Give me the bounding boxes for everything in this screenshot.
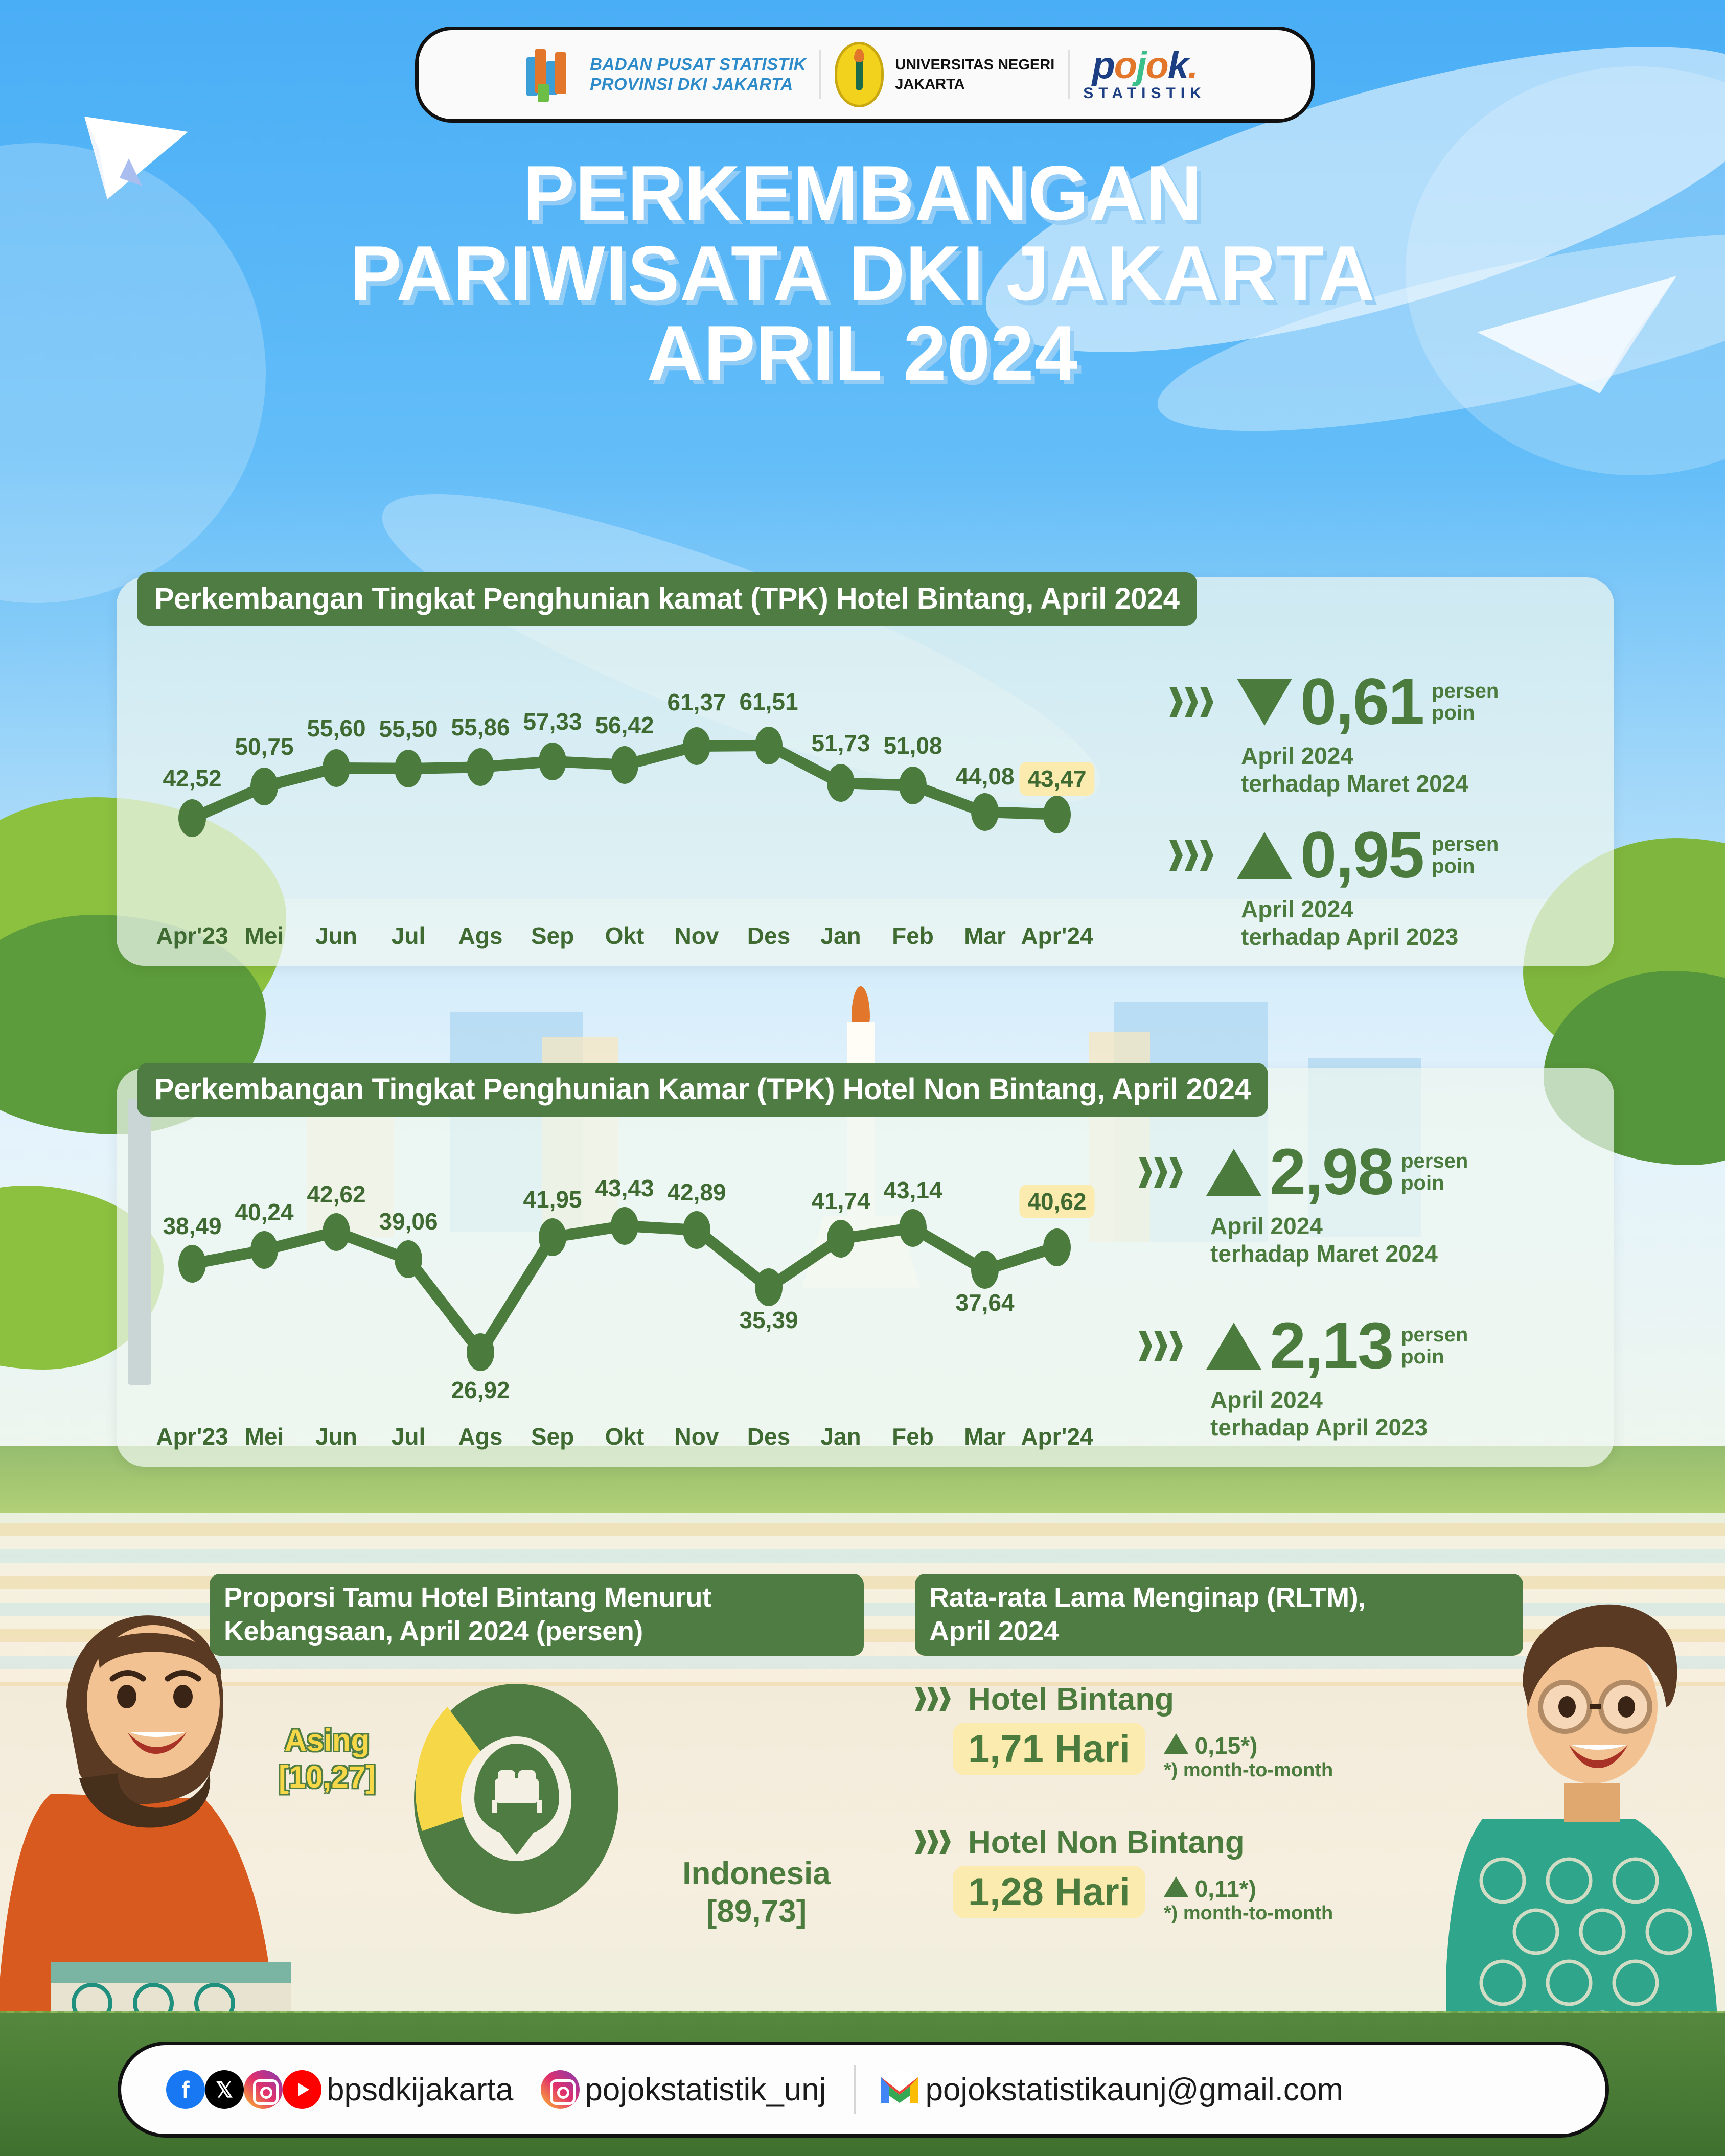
chart2-title: Perkembangan Tingkat Penghunian Kamar (T…: [137, 1063, 1268, 1117]
chart2-stat-mom-unit: persen poin: [1401, 1150, 1468, 1194]
data-point-label: 40,62: [1019, 1185, 1094, 1218]
x-axis-label: Nov: [675, 1423, 719, 1450]
chart1-stat-yoy-value: 0,95: [1300, 823, 1423, 888]
chart1-stat-yoy-caption1: April 2024: [1241, 895, 1499, 923]
rltm-section-title: Rata-rata Lama Menginap (RLTM), April 20…: [915, 1574, 1523, 1656]
gmail-icon[interactable]: [879, 2070, 920, 2109]
x-axis-label: Apr'24: [1021, 922, 1093, 949]
chart1-stat-yoy-unit: persen poin: [1432, 833, 1499, 877]
x-axis-label: Sep: [531, 1423, 574, 1450]
x-axis-label: Des: [747, 1423, 790, 1450]
data-point: [323, 749, 350, 787]
chart1-stat-mom-caption1: April 2024: [1241, 742, 1499, 770]
data-point: [467, 748, 494, 786]
data-point-label: 35,39: [739, 1306, 798, 1334]
pie-chart-guest-nationality: [394, 1671, 639, 1927]
chevron-right-icon: [915, 1828, 959, 1858]
data-point-label: 43,43: [595, 1174, 654, 1202]
data-point: [178, 799, 206, 837]
x-axis-label: Jul: [392, 922, 425, 949]
triangle-up-icon: [1206, 1149, 1261, 1196]
data-point-label: 51,08: [883, 732, 942, 759]
chart2-stat-yoy-unit: persen poin: [1401, 1324, 1468, 1368]
triangle-up-icon: [1164, 1733, 1188, 1754]
pojok-letter-p: p: [1092, 44, 1114, 86]
chart2-stat-mom: 2,98 persen poin April 2024 terhadap Mar…: [1139, 1140, 1468, 1268]
chart1-stat-yoy-caption2: terhadap April 2023: [1241, 923, 1499, 951]
unit-line-1: persen: [1432, 833, 1499, 855]
data-point: [683, 727, 710, 765]
unj-logo-group: UNIVERSITAS NEGERI JAKARTA: [821, 42, 1068, 107]
footer-divider: [854, 2065, 856, 2114]
chart1-stat-mom-caption2: terhadap Maret 2024: [1241, 770, 1499, 797]
data-point-label: 56,42: [595, 711, 654, 739]
data-point-label: 41,74: [811, 1187, 870, 1215]
data-point: [539, 743, 566, 780]
chart2-plot: 38,49Apr'2340,24Mei42,62Jun39,06Jul26,92…: [132, 1145, 1118, 1451]
indonesia-value: [89,73]: [649, 1893, 864, 1931]
handle-email[interactable]: pojokstatistikaunj@gmail.com: [925, 2072, 1343, 2108]
pojok-letter-j: j: [1136, 44, 1146, 86]
chart1-plot: 42,52Apr'2350,75Mei55,60Jun55,50Jul55,86…: [132, 675, 1118, 951]
pojok-letter-o: o: [1114, 44, 1136, 86]
chevron-right-icon: [915, 1685, 959, 1714]
asing-name: Asing: [253, 1722, 401, 1759]
unit-line-2: poin: [1432, 855, 1475, 877]
rltm-non-bintang-note: *) month-to-month: [1164, 1903, 1333, 1925]
data-point: [323, 1213, 350, 1251]
bps-line-1: BADAN PUSAT STATISTIK: [590, 55, 806, 75]
chart-panel-hotel-bintang: Perkembangan Tingkat Penghunian kamat (T…: [117, 577, 1614, 966]
rltm-row-hotel-non-bintang: Hotel Non Bintang 1,28 Hari 0,11*) *) mo…: [915, 1824, 1333, 1925]
x-axis-label: Mei: [245, 922, 284, 949]
pie-label-asing: Asing [10,27]: [253, 1722, 401, 1796]
chevron-right-icon: [1169, 836, 1229, 875]
data-point: [899, 1209, 927, 1247]
data-point-label: 43,14: [883, 1176, 942, 1204]
triangle-up-icon: [1164, 1876, 1188, 1897]
data-point: [683, 1211, 710, 1249]
rltm-bintang-name: Hotel Bintang: [968, 1681, 1174, 1718]
data-point-label: 57,33: [523, 708, 582, 735]
data-point-label: 44,08: [955, 762, 1014, 790]
data-point-label: 55,50: [379, 715, 438, 743]
chart2-stat-yoy: 2,13 persen poin April 2024 terhadap Apr…: [1139, 1313, 1468, 1442]
data-point-label: 38,49: [163, 1212, 221, 1240]
data-point-label: 61,51: [739, 688, 798, 715]
data-point-label: 37,64: [955, 1289, 1014, 1316]
x-axis-label: Jan: [820, 1423, 861, 1450]
x-axis-label: Mei: [245, 1423, 284, 1450]
rltm-title-line-2: April 2024: [929, 1615, 1509, 1649]
chart1-stat-mom: 0,61 persen poin April 2024 terhadap Mar…: [1169, 669, 1499, 798]
pojok-subtitle: STATISTIK: [1083, 85, 1206, 102]
pojok-letter-k: k: [1168, 44, 1188, 86]
data-point: [755, 1268, 783, 1306]
chart1-stat-mom-value: 0,61: [1300, 669, 1423, 735]
rltm-non-bintang-delta: 0,11*): [1164, 1875, 1333, 1903]
data-point-label: 51,73: [811, 729, 870, 757]
x-axis-label: Feb: [892, 1423, 934, 1450]
unit-line-1: persen: [1401, 1150, 1468, 1172]
page-title: PERKEMBANGAN PARIWISATA DKI JAKARTA APRI…: [0, 153, 1725, 393]
data-point: [755, 727, 783, 764]
x-axis-label: Jul: [392, 1423, 425, 1450]
data-point: [467, 1333, 494, 1371]
data-point: [827, 1220, 855, 1258]
data-point-label: 50,75: [235, 733, 293, 760]
unj-seal-icon: [835, 42, 884, 107]
pie-section-title: Proporsi Tamu Hotel Bintang Menurut Keba…: [210, 1574, 864, 1656]
chart2-stat-mom-value: 2,98: [1270, 1140, 1393, 1205]
data-point: [395, 750, 422, 787]
delta-value: 0,15*): [1195, 1732, 1258, 1759]
pie-title-line-1: Proporsi Tamu Hotel Bintang Menurut: [224, 1581, 849, 1615]
unit-line-1: persen: [1432, 680, 1499, 702]
x-axis-label: Apr'24: [1021, 1423, 1093, 1450]
title-line-1: PERKEMBANGAN: [0, 153, 1725, 234]
bps-line-2: PROVINSI DKI JAKARTA: [590, 75, 806, 95]
pojok-statistik-logo: pojok. STATISTIK: [1070, 47, 1220, 102]
chevron-right-icon: [1169, 683, 1229, 722]
unj-line-2: JAKARTA: [895, 75, 1054, 94]
pojok-letter-o2: o: [1146, 44, 1168, 86]
data-point-label: 39,06: [379, 1208, 438, 1235]
data-point: [899, 767, 927, 804]
data-point-label: 42,52: [163, 764, 221, 792]
data-point-label: 55,86: [451, 713, 510, 741]
pojok-wordmark: pojok.: [1092, 47, 1198, 83]
indonesia-name: Indonesia: [649, 1855, 864, 1893]
unit-line-2: poin: [1432, 702, 1475, 724]
rltm-non-bintang-name: Hotel Non Bintang: [968, 1824, 1245, 1861]
pie-title-line-2: Kebangsaan, April 2024 (persen): [224, 1615, 849, 1649]
x-axis-label: Nov: [675, 922, 719, 949]
chart2-stat-mom-caption1: April 2024: [1210, 1212, 1468, 1240]
bps-logo-text: BADAN PUSAT STATISTIK PROVINSI DKI JAKAR…: [590, 55, 806, 95]
data-point: [1043, 1228, 1071, 1266]
unj-logo-text: UNIVERSITAS NEGERI JAKARTA: [895, 55, 1054, 95]
x-axis-label: Apr'23: [156, 1423, 228, 1450]
x-axis-label: Jan: [820, 922, 861, 949]
logo-bar: BADAN PUSAT STATISTIK PROVINSI DKI JAKAR…: [415, 27, 1315, 123]
pie-label-indonesia: Indonesia [89,73]: [649, 1855, 864, 1931]
asing-value: [10,27]: [253, 1759, 401, 1796]
handle-bpsdkijakarta[interactable]: bpsdkijakarta: [327, 2072, 513, 2108]
delta-value: 0,11*): [1195, 1875, 1256, 1902]
unit-line-2: poin: [1401, 1346, 1444, 1368]
x-axis-label: Okt: [605, 922, 645, 949]
triangle-up-icon: [1206, 1323, 1261, 1370]
data-point-label: 26,92: [451, 1376, 510, 1404]
x-axis-label: Mar: [964, 922, 1006, 949]
unit-line-2: poin: [1401, 1172, 1444, 1194]
title-line-3: APRIL 2024: [0, 313, 1725, 393]
x-axis-label: Ags: [458, 1423, 503, 1450]
triangle-down-icon: [1237, 679, 1292, 726]
data-point-label: 41,95: [523, 1186, 582, 1213]
chevron-right-icon: [1139, 1327, 1198, 1365]
x-axis-label: Apr'23: [156, 922, 228, 949]
data-point: [1043, 796, 1071, 833]
facebook-icon[interactable]: f: [166, 2070, 205, 2109]
unj-line-1: UNIVERSITAS NEGERI: [895, 55, 1054, 75]
chevron-right-icon: [1139, 1153, 1198, 1192]
handle-pojokstatistik-unj[interactable]: pojokstatistik_unj: [585, 2072, 826, 2108]
data-point: [611, 746, 638, 784]
chart-panel-hotel-non-bintang: Perkembangan Tingkat Penghunian Kamar (T…: [117, 1068, 1614, 1467]
bps-logo-group: BADAN PUSAT STATISTIK PROVINSI DKI JAKAR…: [510, 46, 819, 103]
footer-social-bar: f 𝕏 bpsdkijakarta pojokstatistik_unj poj…: [118, 2042, 1609, 2138]
instagram-icon[interactable]: [541, 2070, 580, 2109]
data-point: [971, 1251, 999, 1289]
chart1-stat-yoy: 0,95 persen poin April 2024 terhadap Apr…: [1169, 823, 1499, 951]
chart1-stat-mom-unit: persen poin: [1432, 680, 1499, 724]
x-axis-label: Mar: [964, 1423, 1006, 1450]
x-axis-label: Okt: [605, 1423, 645, 1450]
data-point: [178, 1245, 206, 1283]
pojok-dot: .: [1188, 44, 1198, 86]
x-axis-label: Ags: [458, 922, 503, 949]
rltm-bintang-note: *) month-to-month: [1164, 1759, 1333, 1781]
data-point-label: 40,24: [235, 1198, 293, 1226]
triangle-up-icon: [1237, 832, 1292, 879]
youtube-icon[interactable]: [283, 2070, 321, 2109]
rltm-bintang-value: 1,71 Hari: [953, 1723, 1145, 1775]
data-point: [539, 1218, 566, 1256]
x-axis-label: Feb: [892, 922, 934, 949]
data-point-label: 42,89: [667, 1178, 726, 1206]
data-point: [395, 1240, 422, 1278]
data-point-label: 42,62: [307, 1180, 365, 1208]
chart2-stat-yoy-value: 2,13: [1270, 1313, 1393, 1379]
x-axis-label: Jun: [315, 1423, 357, 1450]
data-point-label: 55,60: [307, 714, 365, 742]
data-point: [250, 768, 278, 805]
data-point: [611, 1207, 638, 1245]
rltm-row-hotel-bintang: Hotel Bintang 1,71 Hari 0,15*) *) month-…: [915, 1681, 1333, 1781]
hotel-pin-icon: [474, 1744, 559, 1836]
chart2-stat-yoy-caption1: April 2024: [1210, 1386, 1468, 1413]
data-point-label: 61,37: [667, 688, 726, 716]
data-point: [971, 793, 999, 831]
x-axis-label: Des: [747, 922, 790, 949]
data-point: [250, 1231, 278, 1269]
rltm-non-bintang-value: 1,28 Hari: [953, 1866, 1145, 1918]
data-point-label: 43,47: [1019, 762, 1094, 796]
chart2-stat-mom-caption2: terhadap Maret 2024: [1210, 1240, 1468, 1267]
rltm-title-line-1: Rata-rata Lama Menginap (RLTM),: [929, 1581, 1509, 1615]
chart2-stat-yoy-caption2: terhadap April 2023: [1210, 1413, 1468, 1441]
instagram-icon[interactable]: [244, 2070, 283, 2109]
x-axis-label: Jun: [315, 922, 357, 949]
x-axis-label: Sep: [531, 922, 574, 949]
data-point: [827, 764, 855, 802]
bps-logo-icon: [523, 46, 579, 103]
x-twitter-icon[interactable]: 𝕏: [205, 2070, 244, 2109]
chart1-title: Perkembangan Tingkat Penghunian kamat (T…: [137, 572, 1197, 626]
unit-line-1: persen: [1401, 1324, 1468, 1346]
title-line-2: PARIWISATA DKI JAKARTA: [0, 234, 1725, 314]
rltm-bintang-delta: 0,15*): [1164, 1732, 1333, 1759]
